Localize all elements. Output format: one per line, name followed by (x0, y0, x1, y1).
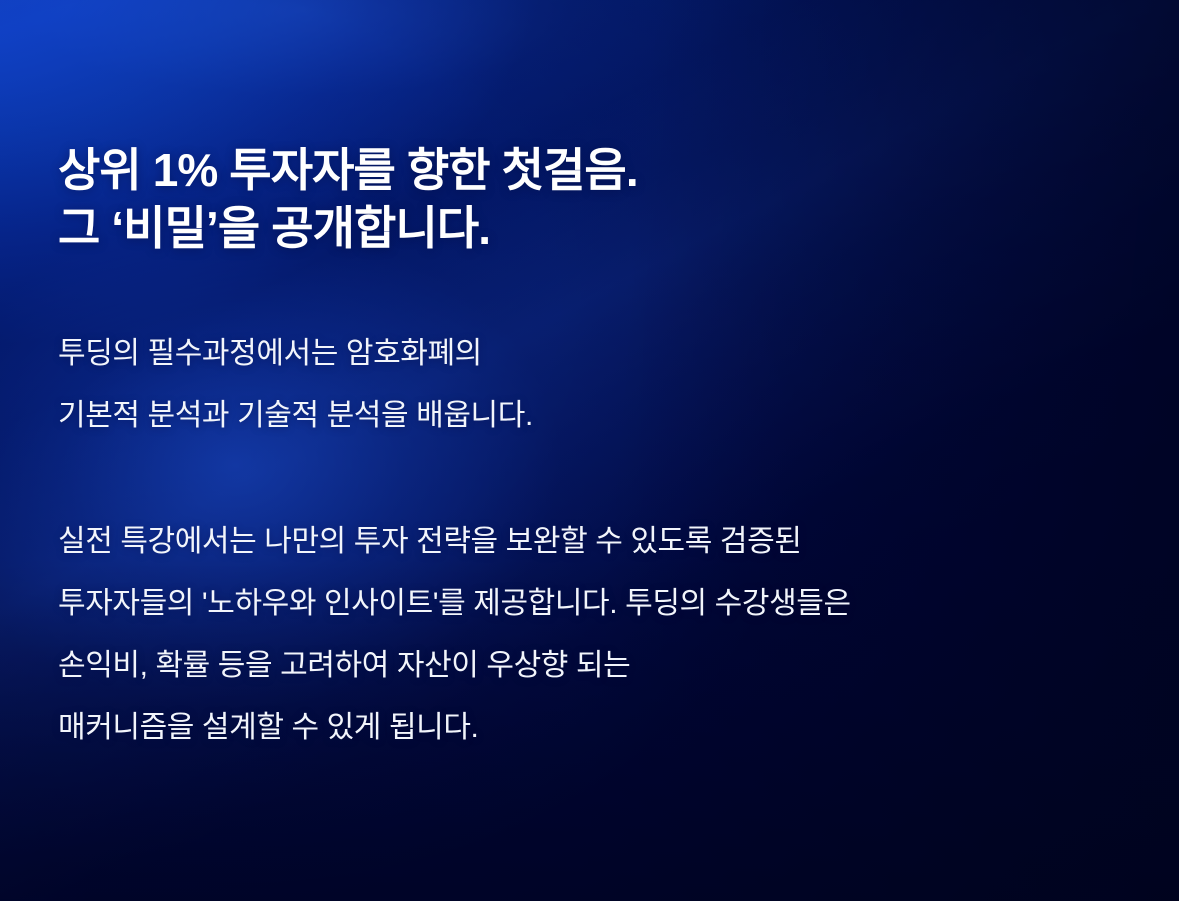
body-paragraph: 실전 특강에서는 나만의 투자 전략을 보완할 수 있도록 검증된 투자자들의 … (58, 511, 851, 759)
subtitle-paragraph: 투딩의 필수과정에서는 암호화폐의 기본적 분석과 기술적 분석을 배웁니다. (58, 323, 533, 447)
promo-banner: 상위 1% 투자자를 향한 첫걸음. 그 ‘비밀’을 공개합니다. 투딩의 필수… (0, 0, 1179, 901)
banner-content: 상위 1% 투자자를 향한 첫걸음. 그 ‘비밀’을 공개합니다. 투딩의 필수… (58, 0, 1179, 901)
headline: 상위 1% 투자자를 향한 첫걸음. 그 ‘비밀’을 공개합니다. (58, 141, 638, 257)
